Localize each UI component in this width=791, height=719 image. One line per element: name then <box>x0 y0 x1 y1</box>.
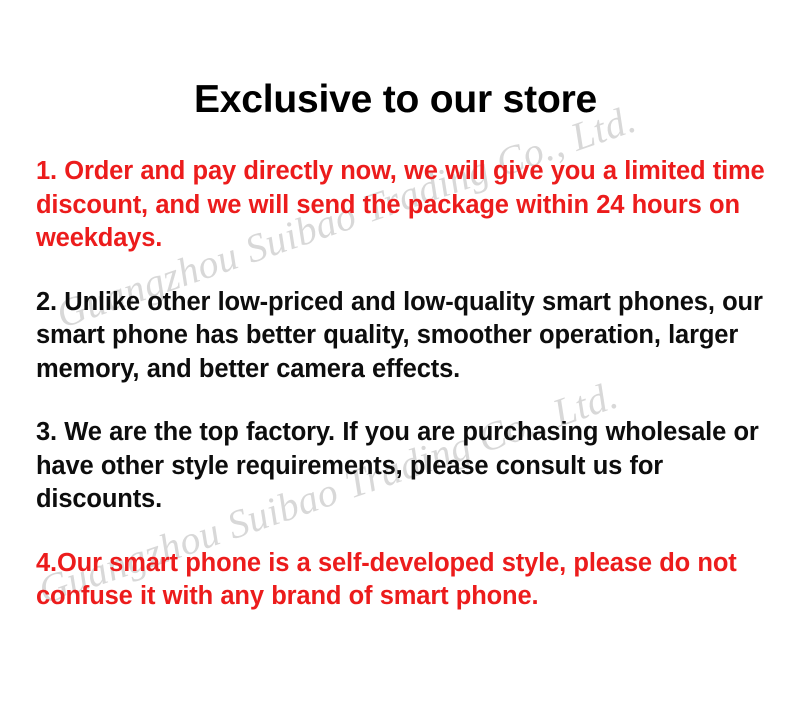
page-title: Exclusive to our store <box>0 78 791 122</box>
policy-item-4: 4.Our smart phone is a self-developed st… <box>36 547 768 614</box>
content-layer: Exclusive to our store 1. Order and pay … <box>0 0 791 719</box>
policy-item-3: 3. We are the top factory. If you are pu… <box>36 416 768 517</box>
policy-item-2: 2. Unlike other low-priced and low-quali… <box>36 286 768 387</box>
policy-list: 1. Order and pay directly now, we will g… <box>36 155 768 614</box>
policy-item-1: 1. Order and pay directly now, we will g… <box>36 155 768 256</box>
promo-banner: Guangzhou Suibao Trading Co., Ltd. Guang… <box>0 0 791 719</box>
